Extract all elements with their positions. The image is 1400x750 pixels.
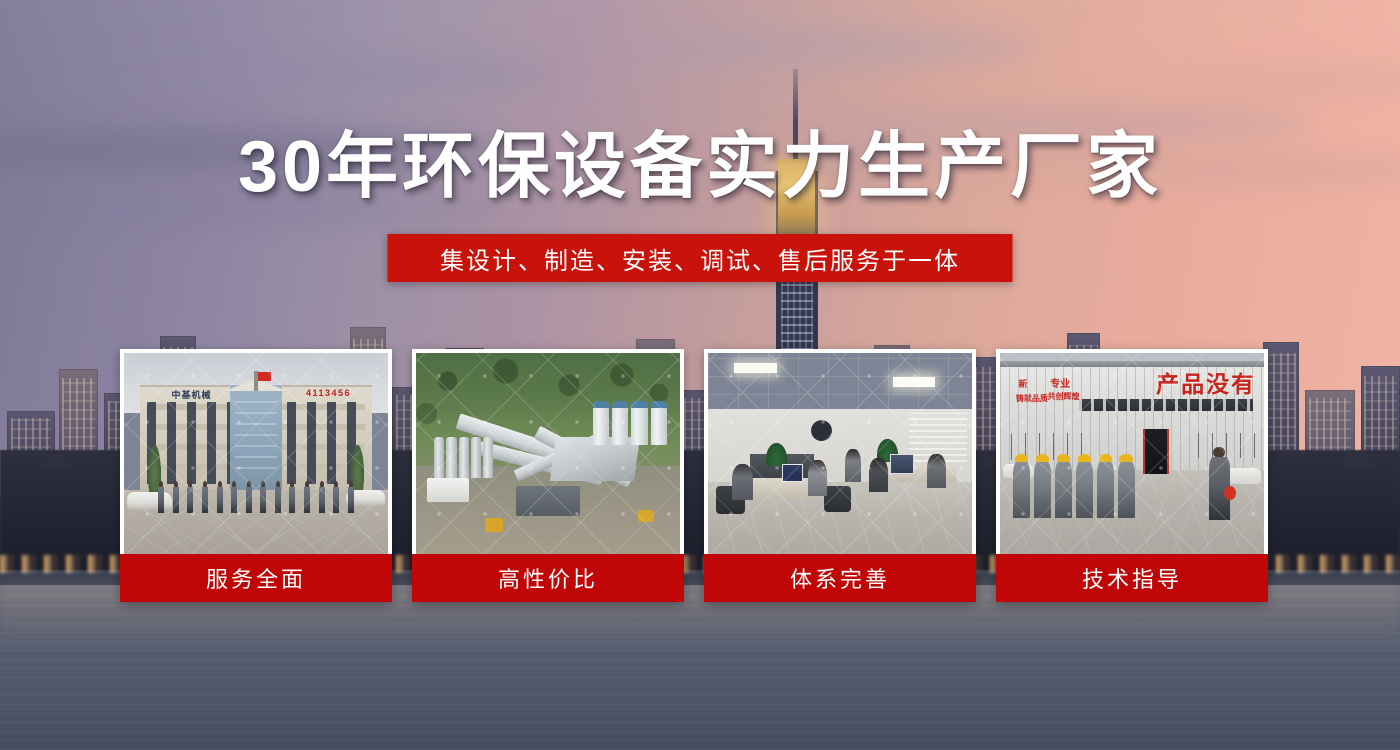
feature-card-value[interactable]: 高性价比 — [412, 349, 684, 602]
staff-person — [158, 481, 164, 513]
card-label-bar: 高性价比 — [412, 554, 684, 602]
cloud-shape — [1176, 69, 1400, 94]
worker-person — [1097, 454, 1114, 518]
subtitle-text: 集设计、制造、安装、调试、售后服务于一体 — [440, 241, 960, 276]
subtitle-banner: 集设计、制造、安装、调试、售后服务于一体 — [388, 234, 1013, 282]
production-plant-aerial-photo — [412, 349, 684, 554]
card-label-text: 体系完善 — [790, 562, 890, 594]
office-worker — [927, 454, 945, 488]
feature-card-service[interactable]: 中基机械 4113456 — [120, 349, 392, 602]
building-signage-text: 中基机械 — [172, 388, 212, 401]
computer-monitor — [782, 464, 803, 482]
office-chair — [824, 486, 850, 512]
river-water — [0, 585, 1400, 750]
office-worker — [869, 458, 887, 492]
factory-sign-main-text: 产品没有 — [1156, 365, 1256, 399]
feature-card-system[interactable]: 体系完善 — [704, 349, 976, 602]
card-label-bar: 体系完善 — [704, 554, 976, 602]
cement-silos — [593, 401, 667, 445]
silo-cylinder — [593, 401, 609, 445]
loading-shed — [516, 486, 579, 516]
office-worker — [808, 460, 826, 496]
ceiling-light-panel — [893, 377, 935, 387]
card-label-bar: 技术指导 — [996, 554, 1268, 602]
preheater-stacks — [434, 437, 492, 477]
card-label-bar: 服务全面 — [120, 554, 392, 602]
stack-column — [434, 437, 444, 477]
building-glass-core — [230, 385, 283, 490]
factory-door — [1143, 429, 1169, 473]
staff-person — [348, 481, 354, 513]
staff-lineup — [158, 481, 353, 513]
hero-banner: 30年环保设备实力生产厂家 集设计、制造、安装、调试、售后服务于一体 中基机械 … — [0, 0, 1400, 750]
staff-person — [304, 481, 310, 513]
factory-sign-secondary-text: 铸就品质 — [1016, 393, 1048, 404]
card-label-text: 服务全面 — [206, 562, 306, 594]
ceiling-light-panel — [734, 363, 776, 373]
stack-column — [483, 437, 493, 477]
parked-car — [1224, 468, 1261, 484]
flag-pole — [254, 371, 258, 391]
office-interior-photo — [704, 349, 976, 554]
staff-person — [231, 481, 237, 513]
excavator — [638, 510, 654, 522]
worker-person — [1076, 454, 1093, 518]
computer-monitor — [890, 454, 914, 474]
factory-sign-secondary-text: 新 — [1018, 377, 1027, 390]
company-headquarters-photo: 中基机械 4113456 — [120, 349, 392, 554]
silo-cylinder — [612, 401, 628, 445]
stack-column — [459, 437, 469, 477]
worker-person — [1034, 454, 1051, 518]
worker-training-photo: 产品没有 新 专业 铸就品质 共创辉煌 — [996, 349, 1268, 554]
worker-lineup — [1013, 454, 1134, 518]
staff-person — [319, 481, 325, 513]
factory-sign-secondary-text: 专业 — [1050, 375, 1070, 390]
staff-person — [202, 481, 208, 513]
office-block — [427, 478, 469, 502]
feature-card-guidance[interactable]: 产品没有 新 专业 铸就品质 共创辉煌 — [996, 349, 1268, 602]
staff-person — [217, 481, 223, 513]
feature-card-row: 中基机械 4113456 — [120, 349, 1268, 602]
red-helmet-icon — [1224, 486, 1236, 500]
factory-sign-secondary-text: 共创辉煌 — [1048, 391, 1080, 402]
worker-person — [1013, 454, 1030, 518]
facade-window-band — [1079, 399, 1253, 411]
staff-person — [173, 481, 179, 513]
staff-person — [289, 481, 295, 513]
silo-cylinder — [651, 401, 667, 445]
card-label-text: 技术指导 — [1082, 562, 1182, 594]
office-worker — [732, 464, 753, 500]
cloud-shape — [196, 59, 560, 89]
staff-person — [275, 481, 281, 513]
potted-plant — [766, 443, 787, 465]
silo-cylinder — [631, 401, 647, 445]
office-worker — [845, 449, 861, 481]
staff-person — [333, 481, 339, 513]
staff-person — [246, 481, 252, 513]
supervisor-person — [1209, 447, 1230, 519]
stack-column — [446, 437, 456, 477]
building-phone-number: 4113456 — [306, 388, 351, 398]
page-title: 30年环保设备实力生产厂家 — [0, 131, 1400, 203]
worker-person — [1118, 454, 1135, 518]
wall-decal — [803, 415, 840, 441]
excavator — [485, 518, 503, 532]
card-label-text: 高性价比 — [498, 562, 598, 594]
stack-column — [471, 437, 481, 477]
worker-person — [1055, 454, 1072, 518]
staff-person — [260, 481, 266, 513]
staff-person — [187, 481, 193, 513]
cloud-shape — [616, 30, 1036, 65]
